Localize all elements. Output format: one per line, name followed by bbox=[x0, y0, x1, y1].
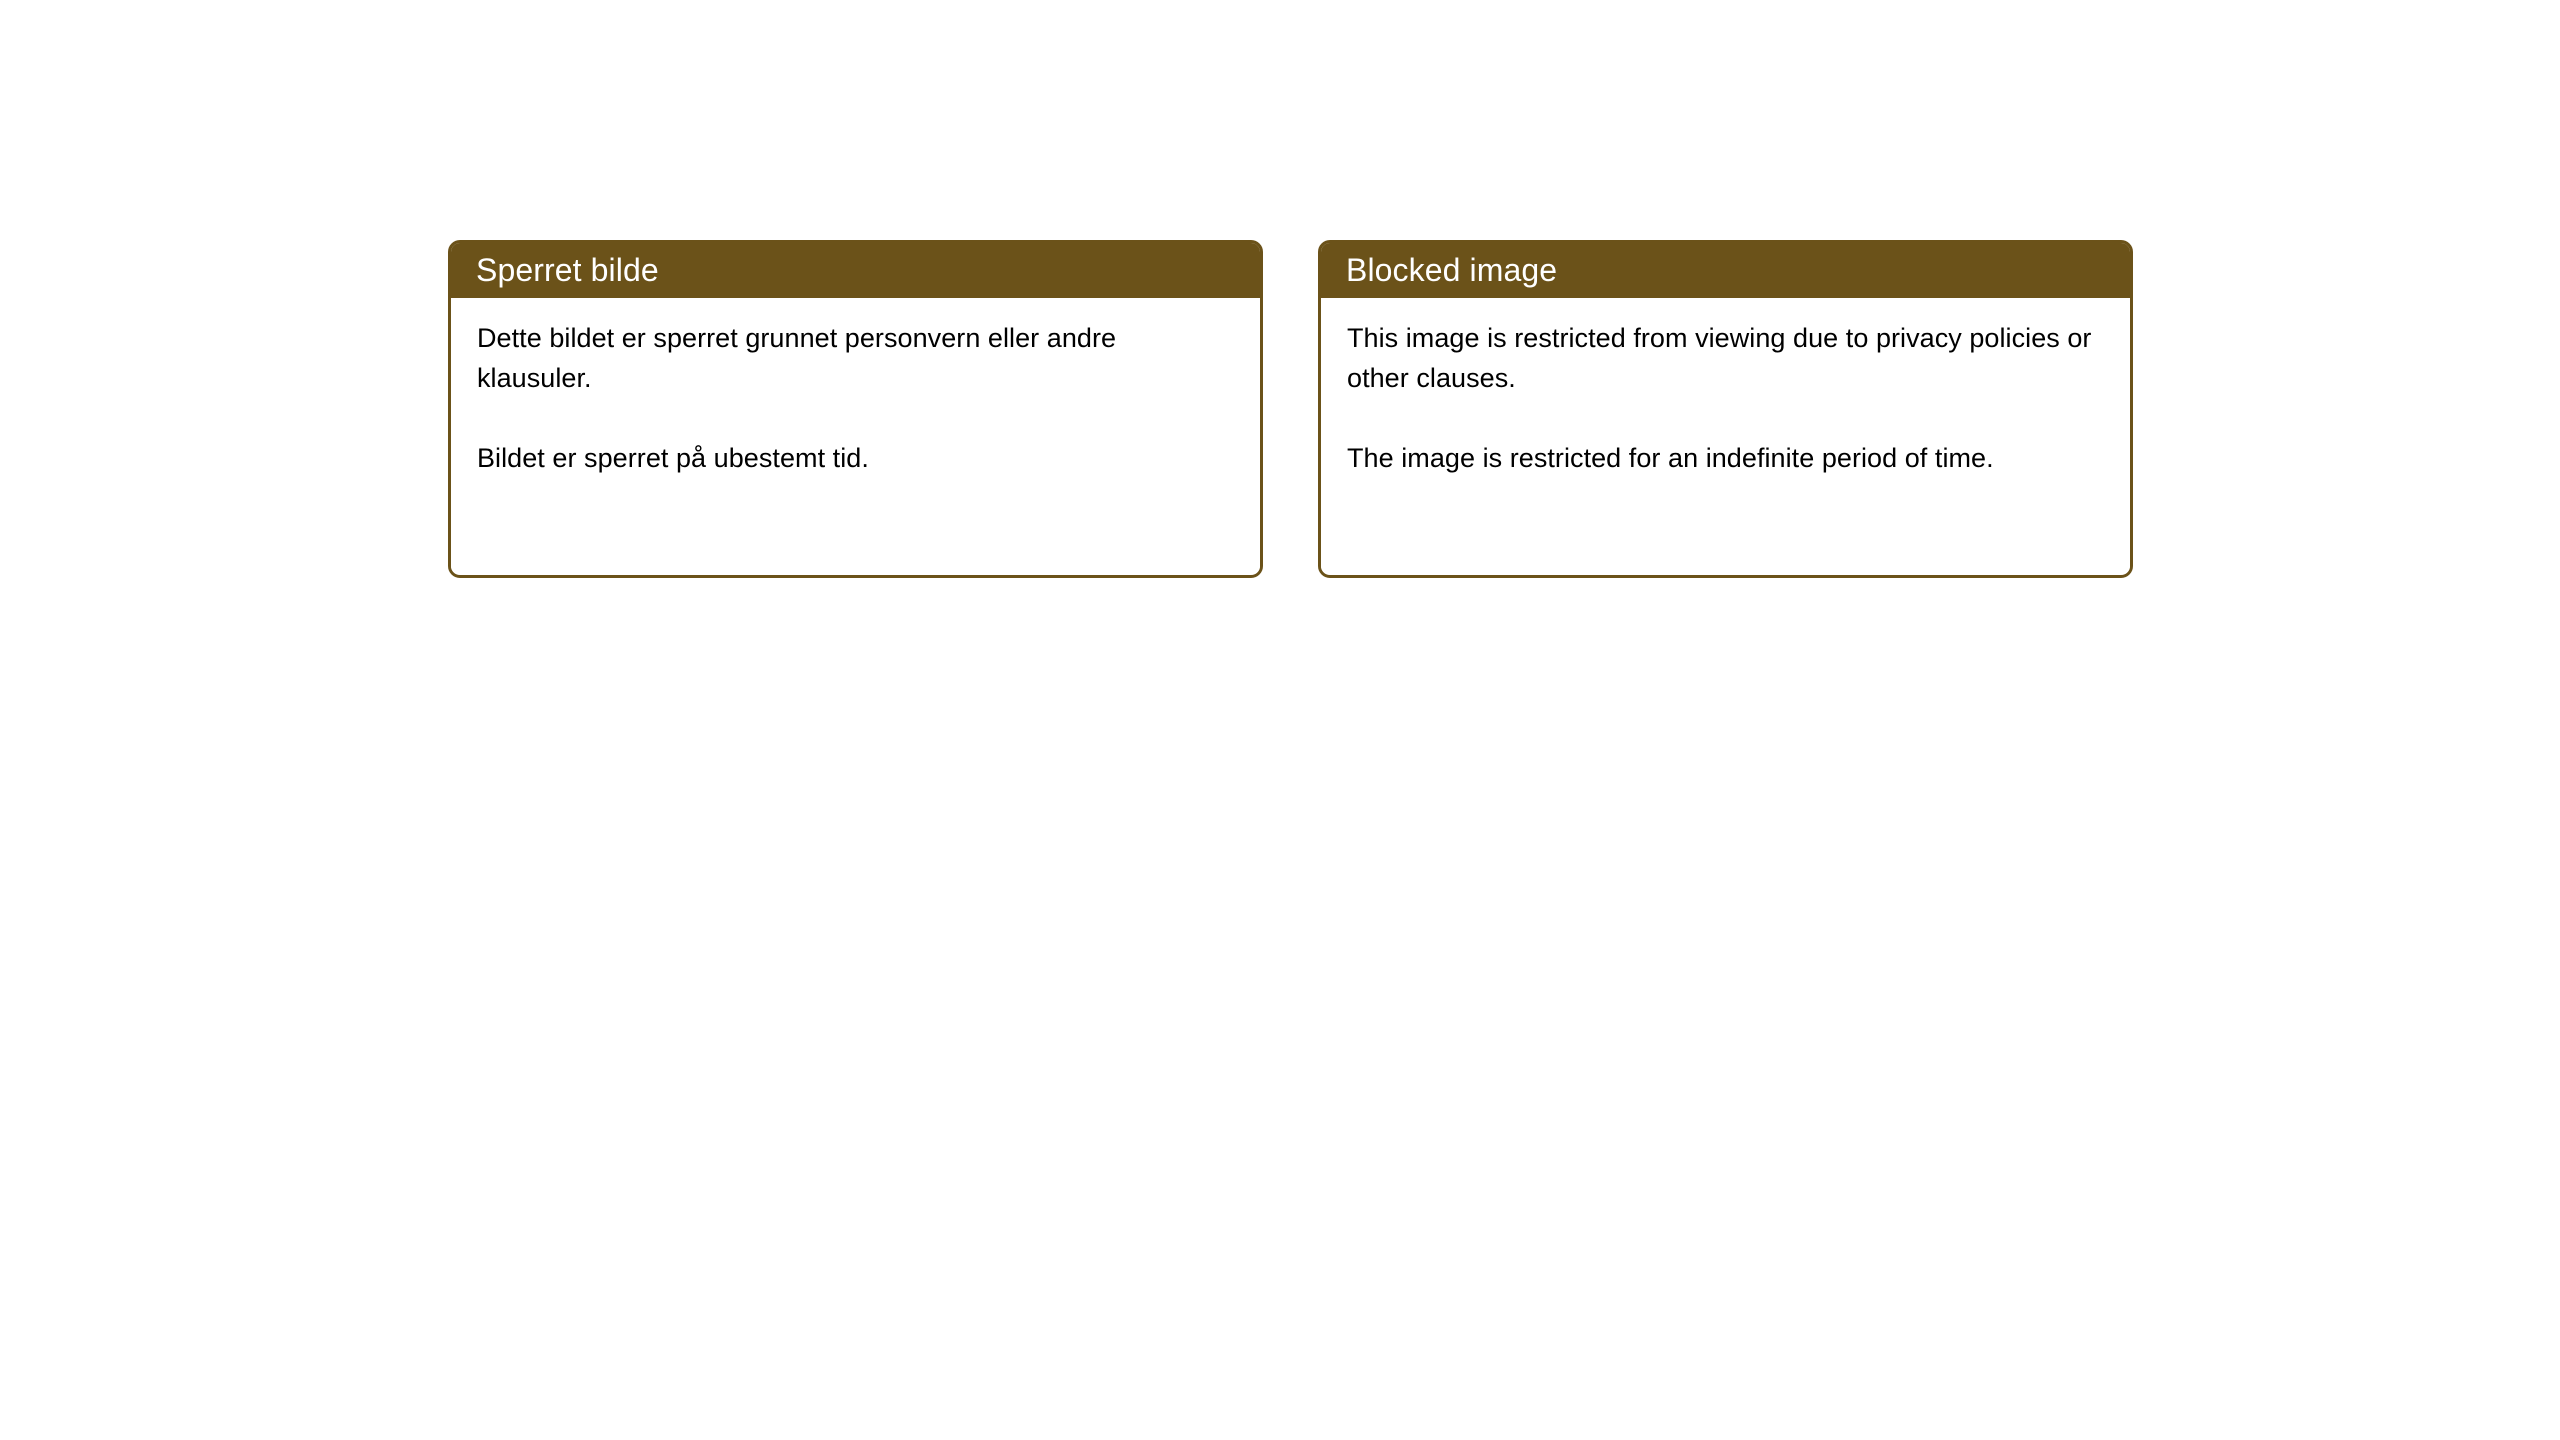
paragraph-spacer bbox=[1347, 398, 2104, 438]
card-body-english: This image is restricted from viewing du… bbox=[1321, 298, 2130, 574]
card-paragraph-secondary-norwegian: Bildet er sperret på ubestemt tid. bbox=[477, 438, 1234, 478]
card-paragraph-primary-english: This image is restricted from viewing du… bbox=[1347, 318, 2104, 398]
blocked-image-card-english: Blocked image This image is restricted f… bbox=[1318, 240, 2133, 578]
card-title-norwegian: Sperret bilde bbox=[476, 254, 659, 286]
card-title-english: Blocked image bbox=[1346, 254, 1557, 286]
blocked-image-card-norwegian: Sperret bilde Dette bildet er sperret gr… bbox=[448, 240, 1263, 578]
card-header-norwegian: Sperret bilde bbox=[450, 242, 1261, 298]
card-header-english: Blocked image bbox=[1320, 242, 2131, 298]
page-canvas: Sperret bilde Dette bildet er sperret gr… bbox=[0, 0, 2560, 1440]
card-paragraph-primary-norwegian: Dette bildet er sperret grunnet personve… bbox=[477, 318, 1234, 398]
card-paragraph-secondary-english: The image is restricted for an indefinit… bbox=[1347, 438, 2104, 478]
paragraph-spacer bbox=[477, 398, 1234, 438]
card-body-norwegian: Dette bildet er sperret grunnet personve… bbox=[451, 298, 1260, 574]
